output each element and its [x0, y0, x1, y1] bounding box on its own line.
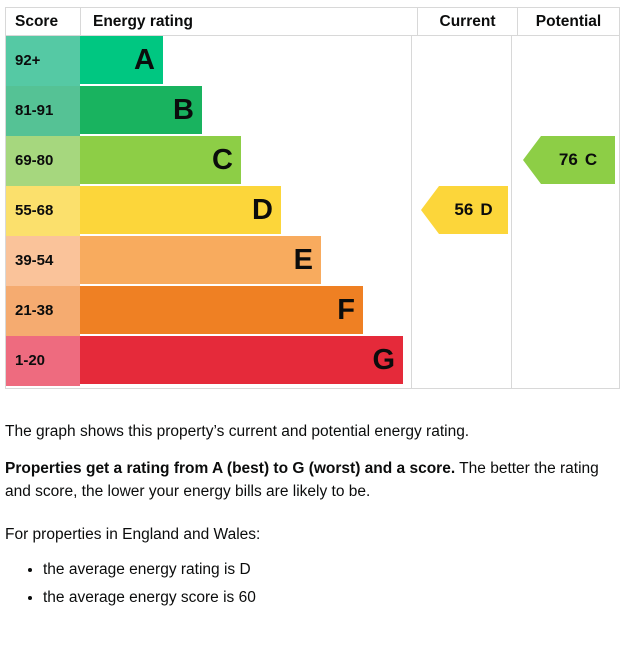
potential-rating-badge: 76C: [523, 136, 615, 184]
band-score-c: 69-80: [6, 136, 80, 186]
column-divider-potential: [511, 36, 512, 389]
band-letter-g: G: [372, 344, 395, 376]
band-letter-d: D: [252, 194, 273, 226]
band-bar-d: D: [80, 186, 281, 234]
band-score-b: 81-91: [6, 86, 80, 136]
band-score-d: 55-68: [6, 186, 80, 236]
band-letter-f: F: [337, 294, 355, 326]
band-row-a: 92+ A: [6, 36, 619, 86]
column-header-current: Current: [417, 8, 517, 35]
list-item: the average energy rating is D: [43, 558, 621, 581]
band-bar-f: F: [80, 286, 363, 334]
notes-region-heading: For properties in England and Wales:: [5, 523, 621, 546]
band-score-a: 92+: [6, 36, 80, 86]
chart-body: 92+ A 81-91 B 69-80 C 55-68 D 39-54 E 21…: [6, 36, 619, 389]
band-score-g: 1-20: [6, 336, 80, 386]
current-rating-badge: 56D: [421, 186, 508, 234]
band-bar-b: B: [80, 86, 202, 134]
band-letter-e: E: [294, 244, 313, 276]
band-row-b: 81-91 B: [6, 86, 619, 136]
current-rating-letter: D: [480, 200, 492, 219]
band-bar-g: G: [80, 336, 403, 384]
notes-rating-paragraph: Properties get a rating from A (best) to…: [5, 457, 621, 503]
notes-rating-bold: Properties get a rating from A (best) to…: [5, 460, 455, 477]
column-header-potential: Potential: [517, 8, 619, 35]
epc-explanatory-notes: The graph shows this property’s current …: [5, 420, 621, 614]
band-score-f: 21-38: [6, 286, 80, 336]
notes-intro: The graph shows this property’s current …: [5, 420, 621, 443]
band-bar-c: C: [80, 136, 241, 184]
potential-rating-letter: C: [585, 150, 597, 169]
column-header-score: Score: [6, 8, 80, 35]
list-item: the average energy score is 60: [43, 586, 621, 609]
column-header-energy-rating: Energy rating: [80, 8, 417, 35]
band-score-e: 39-54: [6, 236, 80, 286]
column-divider-current: [411, 36, 412, 389]
band-row-e: 39-54 E: [6, 236, 619, 286]
band-row-f: 21-38 F: [6, 286, 619, 336]
potential-rating-score: 76: [559, 150, 578, 169]
band-row-g: 1-20 G: [6, 336, 619, 386]
band-letter-c: C: [212, 144, 233, 176]
epc-rating-chart: Score Energy rating Current Potential 92…: [5, 7, 620, 389]
band-letter-b: B: [173, 94, 194, 126]
current-rating-score: 56: [454, 200, 473, 219]
band-bar-e: E: [80, 236, 321, 284]
notes-bullet-list: the average energy rating is D the avera…: [5, 558, 621, 609]
band-bar-a: A: [80, 36, 163, 84]
band-letter-a: A: [134, 44, 155, 76]
band-row-d: 55-68 D: [6, 186, 619, 236]
chart-header-row: Score Energy rating Current Potential: [6, 8, 619, 36]
